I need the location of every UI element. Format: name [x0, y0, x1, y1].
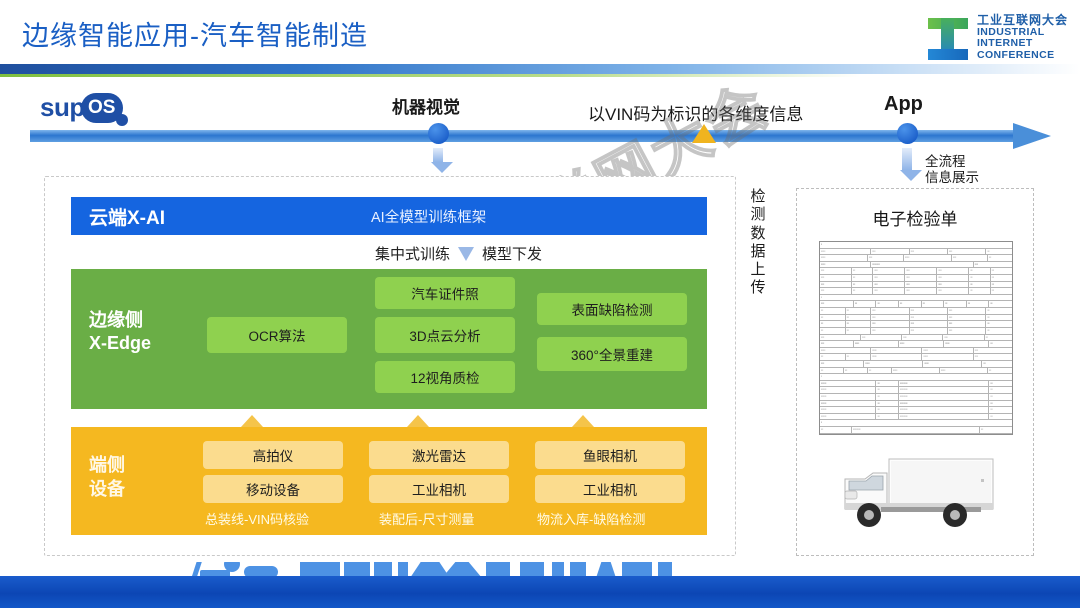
conference-name-en-3: CONFERENCE [977, 50, 1068, 61]
cloud-edge-link: 集中式训练 模型下发 [375, 243, 542, 264]
edge-layer-label: 边缘侧 X-Edge [89, 309, 151, 356]
device-chip-group1-bottom[interactable]: 移动设备 [203, 475, 343, 503]
edge-chip-ocr[interactable]: OCR算法 [207, 317, 347, 353]
device-caption-group3: 物流入库-缺陷检测 [537, 509, 645, 528]
conference-logo-mark [926, 14, 970, 60]
machine-vision-down-arrow [431, 148, 445, 173]
edge-chip-surface-defect[interactable]: 表面缺陷检测 [537, 293, 687, 325]
flow-marker-vin-triangle [692, 124, 716, 143]
app-down-arrow [900, 148, 914, 181]
device-layer-panel: 端侧 设备 高拍仪 移动设备 总装线-VIN码核验 激光雷达 工业相机 装配后-… [71, 427, 707, 535]
device-caption-group2: 装配后-尺寸测量 [379, 509, 474, 528]
edge-chip-12-view-inspection[interactable]: 12视角质检 [375, 361, 515, 393]
device-chip-group2-bottom[interactable]: 工业相机 [369, 475, 509, 503]
edge-chip-vehicle-id-photo[interactable]: 汽车证件照 [375, 277, 515, 309]
architecture-stack-panel: 云端X-AI AI全模型训练框架 集中式训练 模型下发 边缘侧 X-Edge O… [44, 176, 736, 556]
cloud-layer-label: 云端X-AI [89, 203, 165, 230]
device-chip-group1-top[interactable]: 高拍仪 [203, 441, 343, 469]
inspection-form-table: ▪▪▪▪▪▪▪▪▪▪▪▪▪▪▪▪▪▪▪▪▪▪▪▪▪▪▪▪▪▪▪▪▪▪▪▪▪▪▪▪… [819, 241, 1013, 435]
conference-name-en-2: INTERNET [977, 38, 1068, 49]
footer-decoration [0, 562, 1080, 608]
edge-chip-3d-pointcloud[interactable]: 3D点云分析 [375, 317, 515, 353]
conference-logo: 工业互联网大会 INDUSTRIAL INTERNET CONFERENCE [926, 14, 1068, 61]
header-divider-accent [0, 74, 860, 77]
supos-logo: sup OS [40, 92, 123, 123]
model-deploy-label: 模型下发 [482, 243, 542, 264]
conference-name-cn: 工业互联网大会 [977, 14, 1068, 27]
flow-label-app: App [884, 93, 923, 116]
page-title: 边缘智能应用-汽车智能制造 [22, 14, 368, 53]
device-chip-group3-bottom[interactable]: 工业相机 [535, 475, 685, 503]
device-layer-label: 端侧 设备 [89, 453, 125, 502]
device-chip-group2-top[interactable]: 激光雷达 [369, 441, 509, 469]
header-divider [0, 64, 1080, 74]
flow-label-machine-vision: 机器视觉 [392, 93, 460, 118]
edge-layer-panel: 边缘侧 X-Edge OCR算法 汽车证件照 3D点云分析 12视角质检 表面缺… [71, 269, 707, 409]
centralized-training-label: 集中式训练 [375, 243, 450, 264]
inspection-report-title: 电子检验单 [797, 205, 1033, 230]
supos-logo-badge: OS [81, 93, 123, 123]
cloud-layer-subtitle: AI全模型训练框架 [371, 206, 486, 227]
supos-logo-text: sup [40, 92, 85, 123]
device-chip-group3-top[interactable]: 鱼眼相机 [535, 441, 685, 469]
inspection-report-panel: 电子检验单 ▪▪▪▪▪▪▪▪▪▪▪▪▪▪▪▪▪▪▪▪▪▪▪▪▪▪▪▪▪▪▪▪▪▪… [796, 188, 1034, 556]
flow-arrow-head [1013, 123, 1051, 149]
cloud-layer-bar: 云端X-AI AI全模型训练框架 [71, 197, 707, 235]
flow-label-vin: 以VIN码为标识的各维度信息 [588, 100, 803, 125]
flow-marker-machine-vision-dot [428, 123, 449, 144]
app-note-line2: 信息展示 [925, 166, 979, 186]
footer-water-band [0, 576, 1080, 608]
upload-data-vertical-label: 检测数据上传 [748, 188, 768, 298]
truck-image [821, 445, 1013, 539]
flow-marker-app-dot [897, 123, 918, 144]
model-deploy-arrow-icon [458, 247, 474, 261]
device-caption-group1: 总装线-VIN码核验 [205, 509, 309, 528]
edge-chip-360-panorama[interactable]: 360°全景重建 [537, 337, 687, 371]
